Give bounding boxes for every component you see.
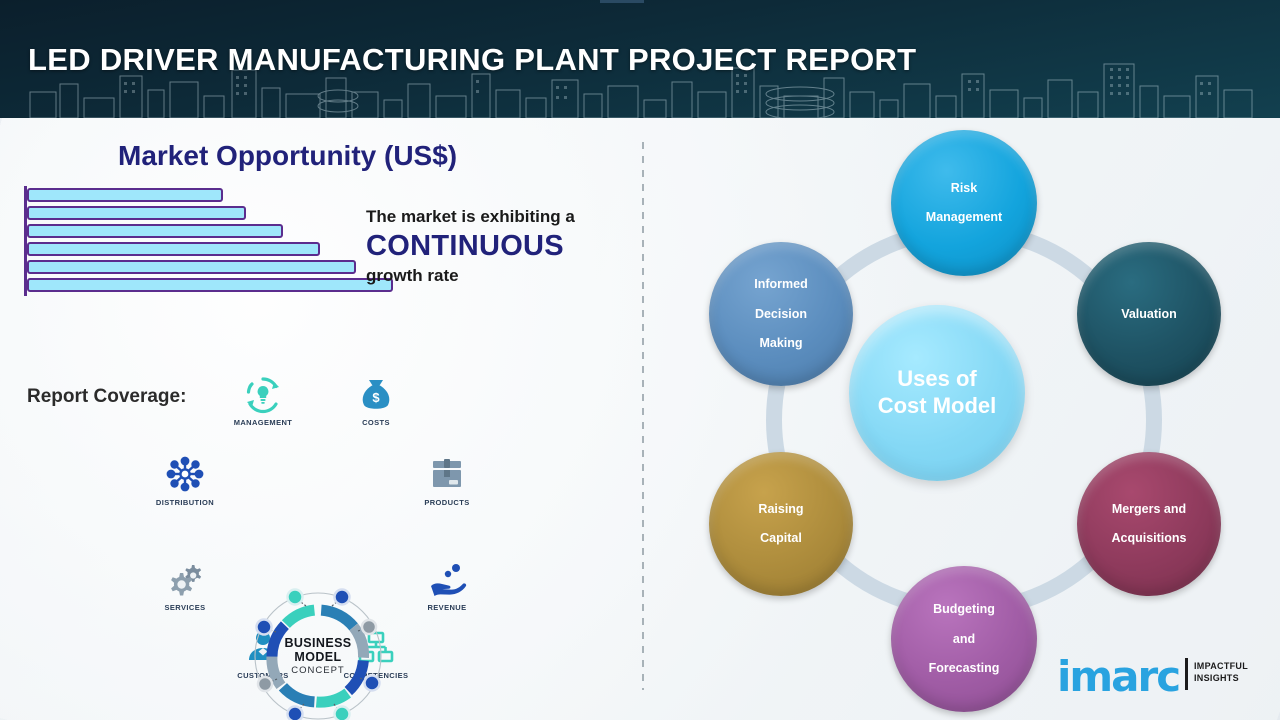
- money-bag-icon: $: [328, 373, 424, 415]
- report-coverage-label: Report Coverage:: [27, 386, 186, 408]
- chart-bar: [27, 224, 283, 238]
- market-opportunity-title: Market Opportunity (US$): [118, 140, 457, 172]
- growth-line-1: The market is exhibiting a: [366, 206, 636, 227]
- cost-model-node-valuation[interactable]: Valuation: [1077, 242, 1221, 386]
- box-package-icon: [399, 453, 495, 495]
- chart-bar: [27, 188, 223, 202]
- node-line: Budgeting: [923, 602, 1006, 617]
- node-line: Raising: [752, 502, 809, 517]
- coverage-item-services: SERVICES: [137, 558, 233, 612]
- node-line: Acquisitions: [1105, 531, 1192, 546]
- hand-coins-icon: [399, 558, 495, 600]
- business-model-diagram: [248, 586, 388, 720]
- coverage-item-distribution: DISTRIBUTION: [137, 453, 233, 507]
- imarc-logo: imarc IMPACTFUL INSIGHTS: [1057, 648, 1237, 706]
- node-line: Making: [748, 336, 813, 351]
- coverage-item-label: SERVICES: [137, 603, 233, 612]
- cost-model-center-node: Uses of Cost Model: [849, 305, 1025, 481]
- node-line: Risk: [920, 181, 1008, 196]
- growth-statement: The market is exhibiting a CONTINUOUS gr…: [366, 206, 636, 287]
- svg-text:$: $: [372, 390, 380, 405]
- center-line-2: Cost Model: [872, 393, 1003, 420]
- node-line: Informed: [748, 277, 813, 292]
- chart-bar: [27, 242, 320, 256]
- node-line: and: [923, 632, 1006, 647]
- coverage-item-revenue: REVENUE: [399, 558, 495, 612]
- cost-model-node-budgeting-forecasting[interactable]: Budgeting and Forecasting: [891, 566, 1037, 712]
- chart-bar: [27, 260, 356, 274]
- chart-bar: [27, 278, 393, 292]
- network-nodes-icon: [137, 453, 233, 495]
- coverage-item-costs: $ COSTS: [328, 373, 424, 427]
- coverage-item-label: REVENUE: [399, 603, 495, 612]
- right-panel: Uses of Cost Model Risk Management Valua…: [643, 118, 1280, 720]
- chart-bar: [27, 206, 246, 220]
- market-opportunity-bar-chart: [24, 186, 404, 296]
- imarc-logo-divider: [1185, 658, 1188, 690]
- coverage-item-label: COSTS: [328, 418, 424, 427]
- center-line-1: Uses of: [872, 366, 1003, 393]
- node-line: Decision: [748, 307, 813, 322]
- node-line: Mergers and: [1105, 502, 1192, 517]
- recycle-lightbulb-icon: [215, 373, 311, 415]
- cost-model-node-informed-decision-making[interactable]: Informed Decision Making: [709, 242, 853, 386]
- coverage-item-management: MANAGEMENT: [215, 373, 311, 427]
- coverage-item-label: MANAGEMENT: [215, 418, 311, 427]
- coverage-item-label: DISTRIBUTION: [137, 498, 233, 507]
- coverage-item-products: PRODUCTS: [399, 453, 495, 507]
- cost-model-node-raising-capital[interactable]: Raising Capital: [709, 452, 853, 596]
- header-accent-line: [600, 0, 644, 3]
- node-line: Valuation: [1115, 307, 1183, 322]
- growth-line-3: growth rate: [366, 266, 636, 286]
- growth-emphasis: CONTINUOUS: [366, 227, 636, 266]
- cost-model-node-mergers-acquisitions[interactable]: Mergers and Acquisitions: [1077, 452, 1221, 596]
- imarc-tagline-line-2: INSIGHTS: [1194, 673, 1239, 683]
- cost-model-node-risk-management[interactable]: Risk Management: [891, 130, 1037, 276]
- node-line: Management: [920, 210, 1008, 225]
- imarc-wordmark: imarc: [1057, 652, 1179, 701]
- node-line: Forecasting: [923, 661, 1006, 676]
- gears-icon: [137, 558, 233, 600]
- node-line: Capital: [752, 531, 809, 546]
- page-title: LED DRIVER MANUFACTURING PLANT PROJECT R…: [28, 42, 916, 78]
- coverage-item-label: PRODUCTS: [399, 498, 495, 507]
- left-panel: Market Opportunity (US$) The market is e…: [0, 118, 642, 720]
- page-header: LED DRIVER MANUFACTURING PLANT PROJECT R…: [0, 0, 1280, 118]
- imarc-tagline-line-1: IMPACTFUL: [1194, 661, 1248, 671]
